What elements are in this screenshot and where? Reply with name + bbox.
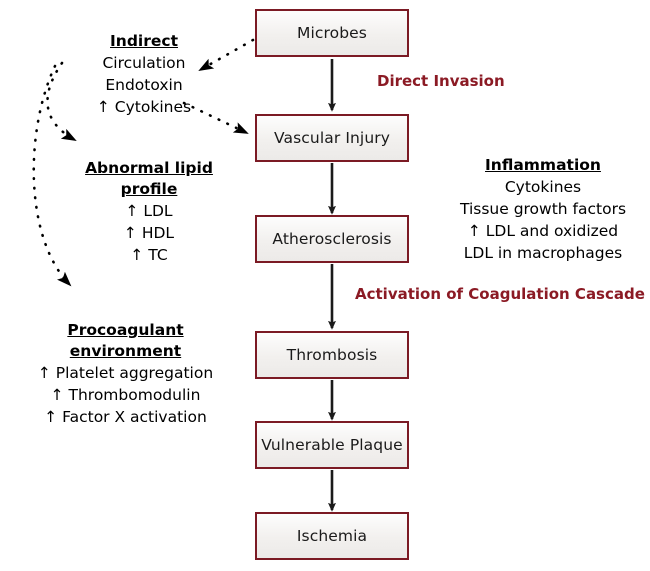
group-heading: Abnormal lipid (64, 158, 234, 179)
node-label: Atherosclerosis (272, 230, 391, 248)
text-group-abnormal-lipid-profile: Abnormal lipid profile ↑ LDL ↑ HDL ↑ TC (64, 158, 234, 266)
group-heading: profile (64, 179, 234, 200)
node-thrombosis[interactable]: Thrombosis (255, 331, 409, 379)
group-item: Endotoxin (59, 74, 229, 96)
label-direct-invasion: Direct Invasion (377, 72, 505, 91)
group-item: Tissue growth factors (436, 198, 650, 220)
group-item: ↑ LDL and oxidized (436, 220, 650, 242)
label-line: Coagulation Cascade (468, 285, 645, 303)
group-heading: Inflammation (436, 155, 650, 176)
node-ischemia[interactable]: Ischemia (255, 512, 409, 560)
node-microbes[interactable]: Microbes (255, 9, 409, 57)
group-item: Cytokines (436, 176, 650, 198)
label-line: Direct Invasion (377, 72, 505, 90)
node-atherosclerosis[interactable]: Atherosclerosis (255, 215, 409, 263)
label-line: Activation of (355, 285, 463, 303)
group-item: ↑ LDL (64, 200, 234, 222)
node-label: Vulnerable Plaque (261, 436, 403, 454)
group-item: LDL in macrophages (436, 242, 650, 264)
node-label: Ischemia (297, 527, 367, 545)
group-item: ↑ Platelet aggregation (18, 362, 233, 384)
group-item: Circulation (59, 52, 229, 74)
group-heading: Procoagulant (18, 320, 233, 341)
group-item: ↑ Thrombomodulin (18, 384, 233, 406)
node-label: Microbes (297, 24, 367, 42)
text-group-inflammation: Inflammation Cytokines Tissue growth fac… (436, 155, 650, 264)
node-label: Vascular Injury (274, 129, 390, 147)
node-label: Thrombosis (287, 346, 378, 364)
node-vulnerable-plaque[interactable]: Vulnerable Plaque (255, 421, 409, 469)
group-heading: Indirect (59, 31, 229, 52)
group-heading: environment (18, 341, 233, 362)
text-group-indirect: Indirect Circulation Endotoxin ↑ Cytokin… (59, 31, 229, 118)
diagram-canvas: Microbes Vascular Injury Atherosclerosis… (0, 0, 650, 571)
group-item: ↑ HDL (64, 222, 234, 244)
group-item: ↑ Cytokines (59, 96, 229, 118)
label-activation-coagulation-cascade: Activation of Coagulation Cascade (355, 285, 530, 304)
group-item: ↑ TC (64, 244, 234, 266)
group-item: ↑ Factor X activation (18, 406, 233, 428)
text-group-procoagulant-environment: Procoagulant environment ↑ Platelet aggr… (18, 320, 233, 428)
node-vascular-injury[interactable]: Vascular Injury (255, 114, 409, 162)
